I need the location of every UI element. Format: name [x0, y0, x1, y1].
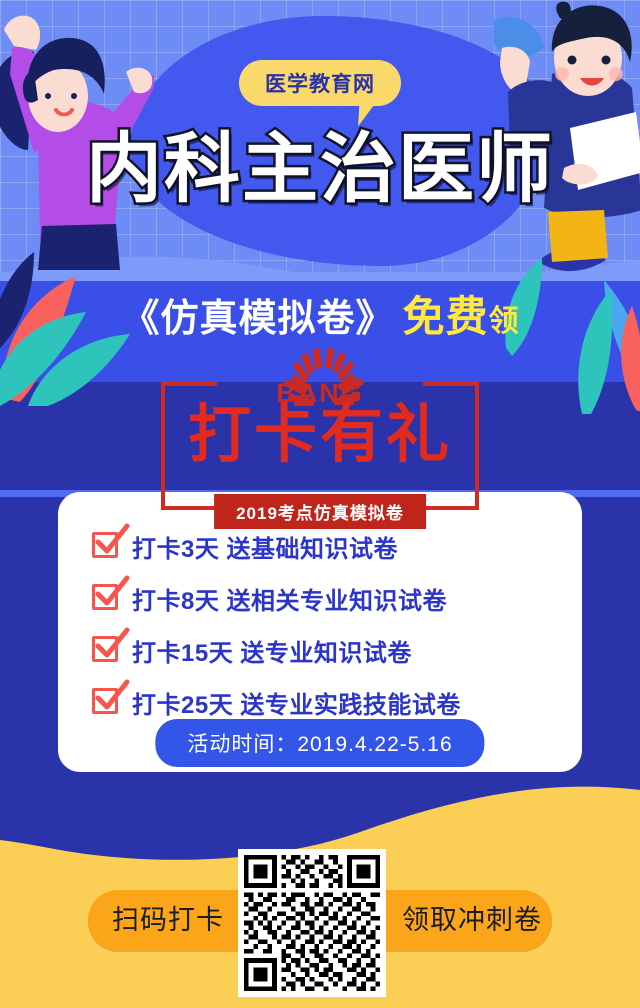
- frame-bottom-left: [161, 506, 217, 510]
- check-box-icon: [92, 636, 120, 664]
- subtitle-part3: 领: [489, 305, 519, 338]
- brand-badge: 医学教育网: [239, 60, 401, 106]
- subtitle-line: 《仿真模拟卷》免费领: [0, 296, 640, 338]
- qr-code-image: [244, 855, 380, 991]
- ribbon-label: 2019考点仿真模拟卷: [214, 494, 426, 529]
- frame-top-left: [161, 382, 217, 386]
- check-box-icon: [92, 532, 120, 560]
- promo-poster: 医学教育网 内科主治医师 《仿真模拟卷》免费领 BANG 打卡有礼 2019考点…: [0, 0, 640, 1008]
- brand-badge-label: 医学教育网: [265, 68, 375, 98]
- list-item-label: 打卡15天 送专业知识试卷: [132, 633, 412, 668]
- claim-paper-button[interactable]: 领取冲刺卷: [402, 890, 542, 950]
- scan-checkin-button[interactable]: 扫码打卡: [112, 890, 224, 950]
- check-box-icon: [92, 584, 120, 612]
- frame-bottom-right: [423, 506, 479, 510]
- list-item-label: 打卡8天 送相关专业知识试卷: [132, 581, 447, 616]
- activity-time-badge: 活动时间：2019.4.22-5.16: [155, 719, 484, 767]
- list-item[interactable]: 打卡8天 送相关专业知识试卷: [92, 576, 562, 620]
- list-item[interactable]: 打卡15天 送专业知识试卷: [92, 628, 562, 672]
- list-item[interactable]: 打卡3天 送基础知识试卷: [92, 524, 562, 568]
- check-box-icon: [92, 688, 120, 716]
- subtitle-part2: 免费: [403, 293, 489, 340]
- list-item-label: 打卡3天 送基础知识试卷: [132, 529, 398, 564]
- benefits-list: 打卡3天 送基础知识试卷 打卡8天 送相关专业知识试卷 打卡15天 送专业知识试…: [92, 524, 562, 732]
- list-item[interactable]: 打卡25天 送专业实践技能试卷: [92, 680, 562, 724]
- frame-top-right: [423, 382, 479, 386]
- page-title: 内科主治医师: [0, 132, 640, 208]
- qr-code[interactable]: [238, 849, 386, 997]
- subtitle-part1: 《仿真模拟卷》: [121, 298, 394, 340]
- list-item-label: 打卡25天 送专业实践技能试卷: [132, 685, 461, 720]
- slogan-text: 打卡有礼: [0, 404, 640, 467]
